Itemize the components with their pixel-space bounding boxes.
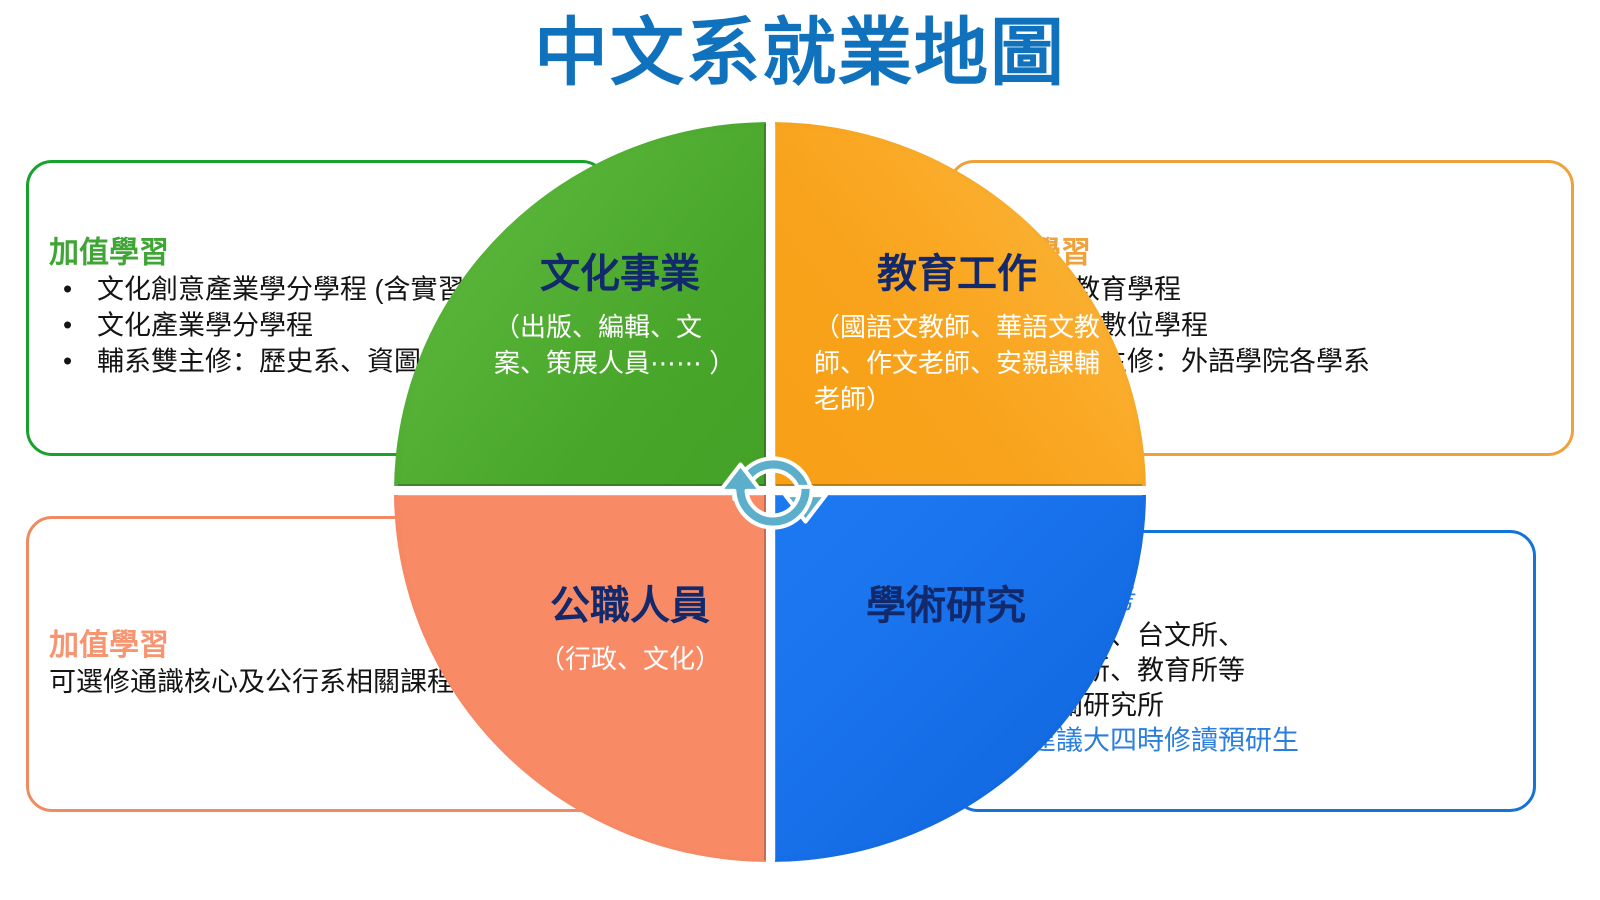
slide-canvas: 中文系就業地圖 加值學習 文化創意產業學分學程 (含實習) 文化產業學分學程 輔… — [0, 0, 1600, 900]
wheel-label-academic-research: 學術研究 — [812, 582, 1080, 642]
wheel-label-civil-service-subtitle: （行政、文化） — [506, 642, 754, 678]
wheel-label-civil-service-title: 公職人員 — [506, 582, 754, 630]
wheel-label-academic-research-title: 學術研究 — [812, 582, 1080, 630]
page-title: 中文系就業地圖 — [0, 14, 1600, 92]
wheel-label-education: 教育工作 （國語文教師、華語文教師、作文老師、安親課輔老師） — [814, 250, 1100, 418]
wheel-label-culture-subtitle: （出版、編輯、文案、策展人員⋯⋯ ） — [494, 310, 746, 382]
wheel-label-education-title: 教育工作 — [814, 250, 1100, 298]
wheel-label-civil-service: 公職人員 （行政、文化） — [506, 582, 754, 678]
wheel-label-education-subtitle: （國語文教師、華語文教師、作文老師、安親課輔老師） — [814, 310, 1100, 418]
wheel-label-culture: 文化事業 （出版、編輯、文案、策展人員⋯⋯ ） — [494, 250, 746, 382]
career-wheel-diagram: 文化事業 （出版、編輯、文案、策展人員⋯⋯ ） 教育工作 （國語文教師、華語文教… — [394, 122, 1146, 862]
wheel-label-culture-title: 文化事業 — [494, 250, 746, 298]
recycle-arrows-icon — [712, 432, 834, 554]
